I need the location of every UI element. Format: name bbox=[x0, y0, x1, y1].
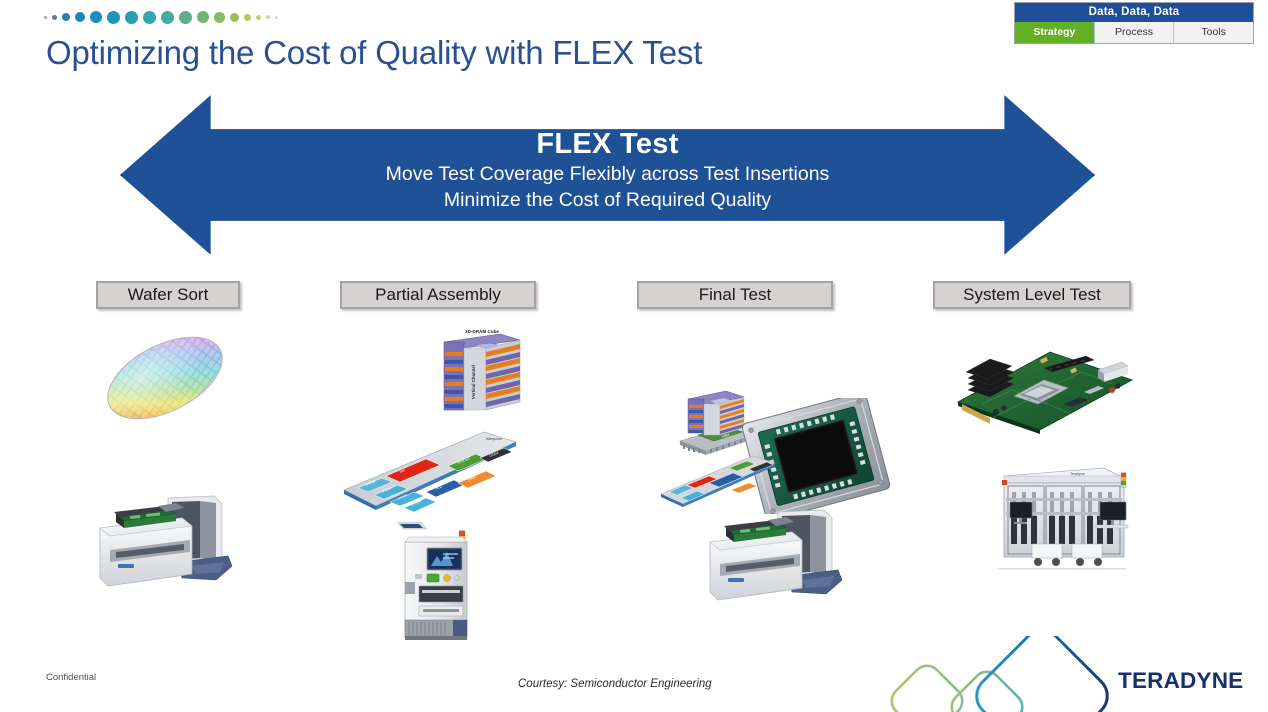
svg-text:Vertical Channel: Vertical Channel bbox=[471, 365, 476, 399]
column-label-system-level-test[interactable]: System Level Test bbox=[933, 281, 1131, 309]
banner-line-1: Move Test Coverage Flexibly across Test … bbox=[120, 161, 1095, 187]
server-motherboard-pcb-image bbox=[952, 334, 1138, 441]
svg-text:Teradyne: Teradyne bbox=[1070, 472, 1085, 476]
decorative-dot bbox=[266, 15, 270, 19]
decorative-dot bbox=[275, 16, 278, 19]
dram-cube-diagram-image: 3D-DRAM Cube Vertical Channel bbox=[434, 326, 530, 423]
decorative-dot bbox=[197, 11, 209, 23]
tab-tools[interactable]: Tools bbox=[1174, 22, 1253, 43]
decorative-dot bbox=[44, 16, 47, 19]
column-label-final-test[interactable]: Final Test bbox=[637, 281, 833, 309]
confidential-label: Confidential bbox=[46, 672, 96, 683]
banner-text-block: FLEX Test Move Test Coverage Flexibly ac… bbox=[120, 128, 1095, 213]
flex-test-banner: FLEX Test Move Test Coverage Flexibly ac… bbox=[120, 90, 1095, 260]
brand-watermark-graphic bbox=[862, 636, 1112, 712]
slide-canvas: Data, Data, Data Strategy Process Tools … bbox=[0, 0, 1268, 712]
tab-strategy[interactable]: Strategy bbox=[1015, 22, 1095, 43]
decorative-dot bbox=[75, 12, 85, 22]
banner-line-2: Minimize the Cost of Required Quality bbox=[120, 187, 1095, 213]
test-cell-cabinet-image bbox=[397, 522, 481, 647]
device-handler-image bbox=[706, 506, 846, 609]
decorative-dot bbox=[143, 11, 156, 24]
brand-wordmark: TERADYNE bbox=[1118, 668, 1243, 694]
system-level-test-cell-image: Teradyne bbox=[988, 458, 1134, 583]
column-label-partial-assembly[interactable]: Partial Assembly bbox=[340, 281, 536, 309]
navigation-chip: Data, Data, Data Strategy Process Tools bbox=[1014, 2, 1254, 44]
courtesy-credit: Courtesy: Semiconductor Engineering bbox=[518, 678, 712, 690]
decorative-dot bbox=[62, 13, 70, 21]
navchip-tab-row: Strategy Process Tools bbox=[1015, 22, 1253, 43]
tab-process[interactable]: Process bbox=[1095, 22, 1175, 43]
decorative-dot-strip bbox=[44, 8, 278, 26]
decorative-dot bbox=[90, 11, 102, 23]
silicon-wafer-image bbox=[98, 328, 232, 433]
navchip-title: Data, Data, Data bbox=[1015, 3, 1253, 22]
page-title: Optimizing the Cost of Quality with FLEX… bbox=[46, 34, 702, 72]
svg-text:3D-DRAM Cube: 3D-DRAM Cube bbox=[465, 329, 499, 334]
multi-chip-interposer-image: Interposer LPDDR LPDDR LPDDR LPDDR SoC P… bbox=[334, 428, 520, 525]
banner-heading: FLEX Test bbox=[120, 128, 1095, 161]
decorative-dot bbox=[161, 11, 174, 24]
decorative-dot bbox=[256, 15, 261, 20]
column-label-wafer-sort[interactable]: Wafer Sort bbox=[96, 281, 240, 309]
decorative-dot bbox=[107, 11, 120, 24]
decorative-dot bbox=[214, 12, 225, 23]
decorative-dot bbox=[244, 14, 251, 21]
decorative-dot bbox=[52, 15, 57, 20]
wafer-prober-handler-image bbox=[96, 492, 236, 595]
decorative-dot bbox=[125, 11, 138, 24]
svg-text:Interposer: Interposer bbox=[486, 437, 503, 441]
decorative-dot bbox=[230, 13, 239, 22]
decorative-dot bbox=[179, 11, 192, 24]
